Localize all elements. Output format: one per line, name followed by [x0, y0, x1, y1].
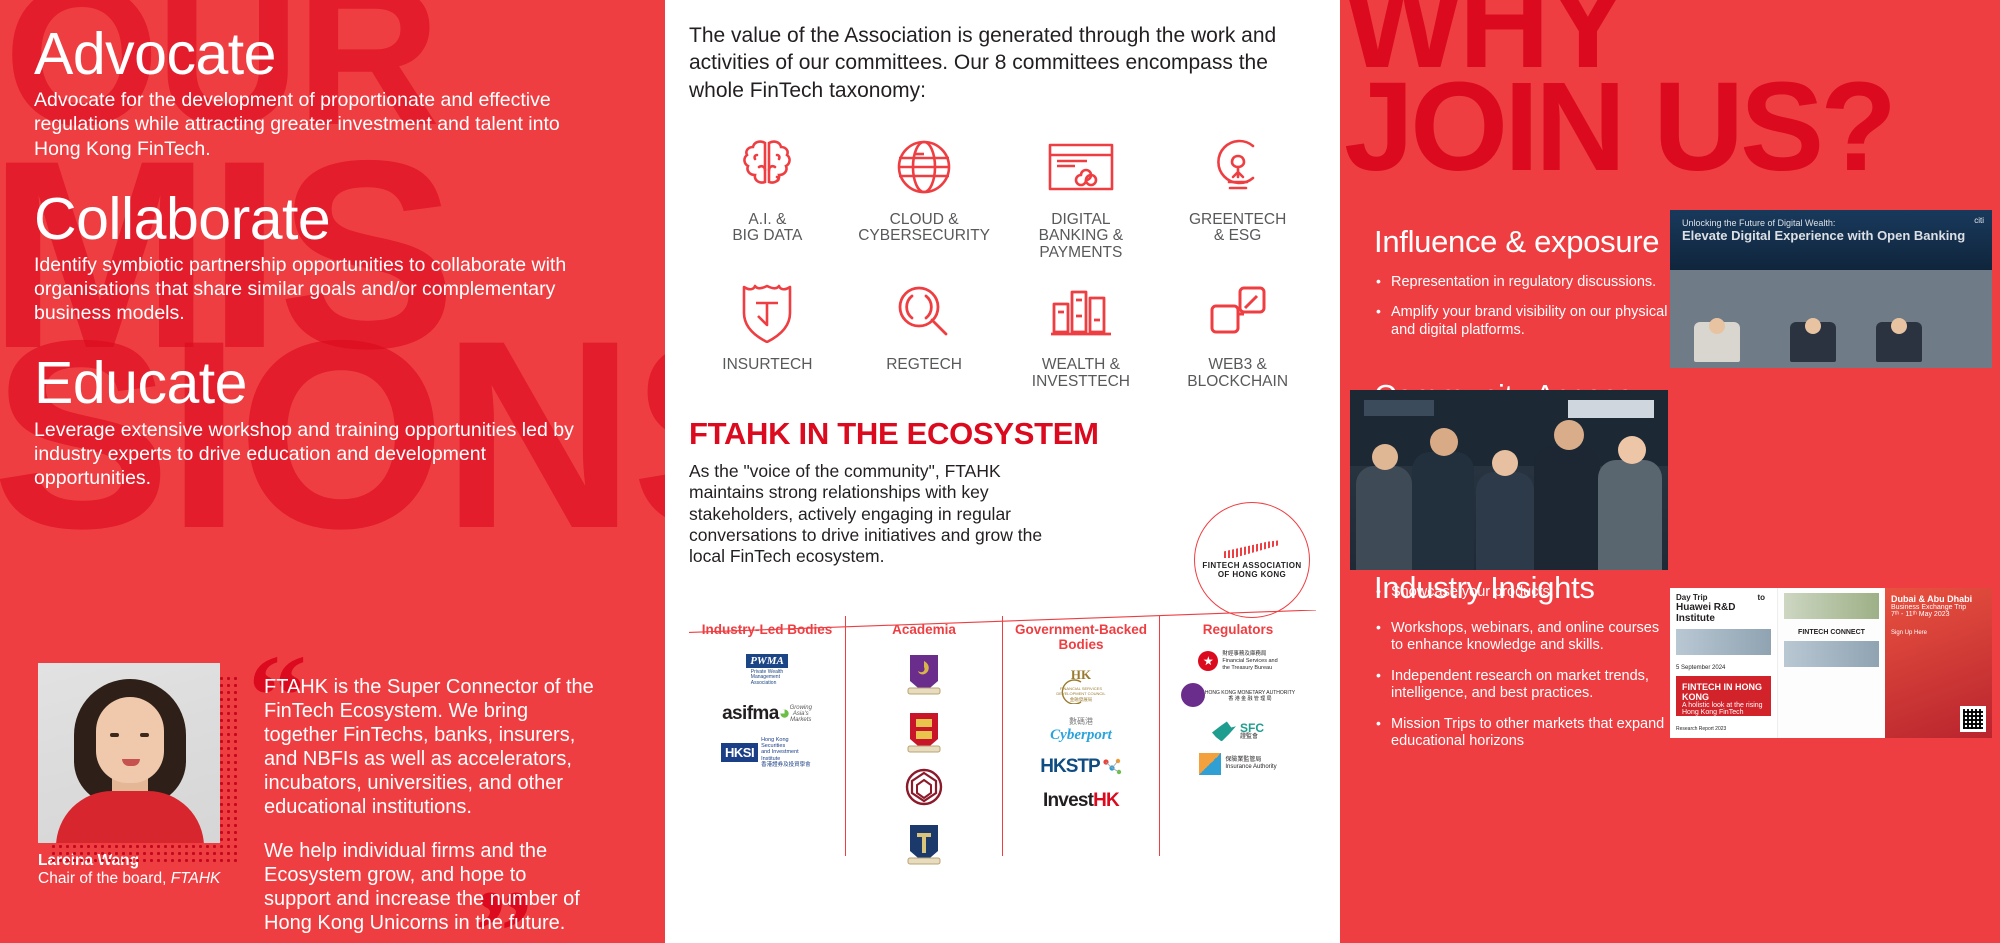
column-header: Industry-Led Bodies [689, 622, 845, 637]
svg-text:DEVELOPMENT COUNCIL: DEVELOPMENT COUNCIL [1056, 691, 1106, 696]
committee-digital-banking-payments[interactable]: DIGITALBANKING &PAYMENTS [1003, 126, 1160, 261]
logo-pwma: PWMAPrivate WealthManagementAssociation [726, 651, 808, 691]
photo-head [1618, 436, 1646, 464]
mission-description: Identify symbiotic partnership opportuni… [34, 253, 594, 326]
trip-photo-body: Day Trip to Huawei R&D Institute 5 Septe… [1670, 588, 1992, 738]
avatar-body [56, 791, 204, 843]
logo-hkfsdc: HK FINANCIAL SERVICES DEVELOPMENT COUNCI… [1053, 666, 1109, 704]
photo-head [1430, 428, 1458, 456]
dubai-subtitle: Business Exchange Trip [1891, 604, 1966, 611]
avatar-eye-right [140, 733, 149, 737]
bauhinia-icon [1198, 651, 1218, 671]
ecosystem-description: As the "voice of the community", FTAHK m… [689, 461, 1074, 568]
credit-card-icon [1003, 126, 1160, 208]
photo-head-1 [1709, 318, 1725, 334]
photo-person [1598, 460, 1662, 570]
eco-column-academia: Academia [845, 616, 1002, 856]
photo-head-3 [1891, 318, 1907, 334]
photo-panel-discussion: Unlocking the Future of Digital Wealth: … [1670, 210, 1992, 368]
logo-list: 財經事務及庫務局Financial Services andthe Treasu… [1160, 651, 1316, 776]
ecosystem-diagram: FINTECH ASSOCIATION OF HONG KONG Industr… [689, 574, 1316, 856]
photo-networking-crowd [1350, 390, 1668, 570]
brain-icon [689, 126, 846, 208]
logo-fstb: 財經事務及庫務局Financial Services andthe Treasu… [1198, 651, 1277, 672]
committee-wealth-investtech[interactable]: WEALTH &INVESTTECH [1003, 271, 1160, 390]
photo-head-2 [1805, 318, 1821, 334]
logo-hku [904, 709, 944, 755]
logo-list: HK FINANCIAL SERVICES DEVELOPMENT COUNCI… [1003, 666, 1159, 812]
mission-description: Leverage extensive workshop and training… [34, 418, 594, 491]
trip-image-strip [1784, 593, 1879, 619]
logo-cuhk [904, 651, 944, 697]
eco-column-government-backed: Government-BackedBodies HK FINANCIAL SER… [1002, 616, 1159, 856]
quote-paragraph-1: FTAHK is the Super Connector of the FinT… [264, 675, 594, 819]
trip-card-fintech-connect: FINTECH CONNECT [1777, 588, 1885, 738]
logo-list [846, 651, 1002, 867]
trip-subtitle: Huawei R&D Institute [1676, 602, 1771, 624]
avatar-face [96, 697, 164, 783]
avatar-mouth [122, 759, 140, 766]
list-item: Independent research on market trends, i… [1374, 668, 1674, 703]
lightbulb-leaf-icon [1159, 126, 1316, 208]
dubai-cta: Sign Up Here [1885, 624, 1992, 642]
ecosystem-columns: Industry-Led Bodies PWMAPrivate WealthMa… [689, 616, 1316, 856]
logo-hkust [904, 821, 944, 867]
missions-panel: OUR MIS SIONS Advocate Advocate for the … [0, 0, 665, 943]
eco-column-regulators: Regulators 財經事務及庫務局Financial Services an… [1159, 616, 1316, 856]
report-cover: FINTECH IN HONG KONG A holistic look at … [1676, 676, 1771, 716]
list-item: Workshops, webinars, and online courses … [1374, 620, 1674, 655]
photo-head [1492, 450, 1518, 476]
why-join-panel: WHY JOIN US? Influence & exposure Repres… [1340, 0, 2000, 943]
avatar [38, 663, 220, 843]
logo-polyu [904, 767, 944, 809]
section-influence-exposure: Influence & exposure Representation in r… [1374, 224, 1674, 352]
poster-page: OUR MIS SIONS Advocate Advocate for the … [0, 0, 2000, 943]
author-role-prefix: Chair of the board, [38, 870, 171, 887]
eco-column-industry-led: Industry-Led Bodies PWMAPrivate WealthMa… [689, 616, 845, 856]
trip-title-main: Day Trip [1676, 593, 1708, 602]
mission-title: Educate [34, 353, 631, 413]
ghost-line-2: JOIN US? [1344, 75, 2000, 178]
trip-card-dubai: Dubai & Abu Dhabi Business Exchange Trip… [1885, 588, 1992, 738]
dubai-date: 7ᵗʰ - 11ᵗʰ May 2023 [1891, 611, 1950, 618]
photo-person [1534, 446, 1600, 570]
dubai-card-text: Dubai & Abu Dhabi Business Exchange Trip… [1885, 588, 1992, 624]
column-header: Academia [846, 622, 1002, 637]
photo-person [1356, 466, 1412, 570]
crowd-photo-body [1350, 390, 1668, 570]
trip-image-strip [1784, 641, 1879, 667]
photo-person [1412, 452, 1474, 570]
mission-advocate: Advocate Advocate for the development of… [34, 24, 631, 161]
committee-label: WEALTH &INVESTTECH [1003, 357, 1160, 390]
logo-list: PWMAPrivate WealthManagementAssociation … [689, 651, 845, 769]
report-subtitle: A holistic look at the rising Hong Kong … [1682, 702, 1763, 723]
committee-grid: A.I. &BIG DATA CLOUD &CYBERSECURITY [689, 126, 1316, 390]
committee-web3-blockchain[interactable]: WEB3 &BLOCKCHAIN [1159, 271, 1316, 390]
photo-caption: Unlocking the Future of Digital Wealth: … [1682, 218, 1965, 243]
list-item: Mission Trips to other markets that expa… [1374, 716, 1674, 751]
logo-asifma: asifma◕Growing Asia's Markets [725, 703, 809, 725]
logo-hksi: HKSIHong Kong Securitiesand Investment I… [721, 737, 813, 769]
photo-head [1554, 420, 1584, 450]
trip-card-day-trip: Day Trip to Huawei R&D Institute 5 Septe… [1670, 588, 1777, 738]
column-header: Regulators [1160, 622, 1316, 637]
list-item: Representation in regulatory discussions… [1374, 274, 1674, 291]
fintech-connect-brand: FINTECH CONNECT [1778, 624, 1885, 636]
badge-line-1: FINTECH ASSOCIATION [1202, 561, 1301, 570]
committee-label: GREENTECH& ESG [1159, 212, 1316, 245]
panel-photo-body: Unlocking the Future of Digital Wealth: … [1670, 210, 1992, 368]
portrait-block: Lareina Wang Chair of the board, FTAHK [38, 663, 226, 888]
photo-mission-trips: Day Trip to Huawei R&D Institute 5 Septe… [1670, 588, 1992, 738]
author-org: FTAHK [171, 870, 221, 887]
globe-icon [846, 126, 1003, 208]
photo-head [1372, 444, 1398, 470]
section-heading: Industry Insights [1374, 570, 1674, 606]
shield-icon [689, 271, 846, 353]
logo-investhk: InvestHK [1043, 790, 1119, 812]
logo-hkma: HONG KONG MONETARY AUTHORITY香 港 金 融 管 理 … [1181, 683, 1295, 709]
bar-chart-icon [1003, 271, 1160, 353]
author-role: Chair of the board, FTAHK [38, 870, 226, 888]
logo-sfc: SFC證監會 [1212, 721, 1264, 741]
ia-mark-icon [1199, 753, 1221, 775]
trip-image-strip [1676, 629, 1771, 655]
committees-panel: The value of the Association is generate… [665, 0, 1340, 943]
committee-insurtech[interactable]: INSURTECH [689, 271, 846, 390]
sfc-bird-icon [1212, 721, 1236, 741]
svg-text:金融發展局: 金融發展局 [1070, 696, 1093, 703]
committee-label: DIGITALBANKING &PAYMENTS [1003, 212, 1160, 261]
ecosystem-title: FTAHK IN THE ECOSYSTEM [689, 416, 1316, 452]
trip-title-to: to [1757, 593, 1771, 602]
committee-label: WEB3 &BLOCKCHAIN [1159, 357, 1316, 390]
logo-insurance-authority: 保險業監管局Insurance Authority [1199, 753, 1276, 775]
missions-list: Advocate Advocate for the development of… [0, 0, 665, 490]
testimonial-text: “ FTAHK is the Super Connector of the Fi… [264, 663, 641, 935]
badge-line-2: OF HONG KONG [1218, 570, 1286, 579]
photo-title: Elevate Digital Experience with Open Ban… [1682, 228, 1965, 243]
benefit-list: Representation in regulatory discussions… [1374, 274, 1674, 339]
trip-date: 5 September 2024 [1670, 660, 1777, 671]
committee-label: INSURTECH [689, 357, 846, 373]
photo-sponsor-logo: citi [1974, 216, 1984, 225]
mission-collaborate: Collaborate Identify symbiotic partnersh… [34, 189, 631, 326]
report-title: FINTECH IN HONG KONG [1682, 682, 1765, 702]
testimonial: Lareina Wang Chair of the board, FTAHK “… [0, 663, 665, 935]
magnifier-icon [846, 271, 1003, 353]
section-industry-insights: Industry Insights Workshops, webinars, a… [1374, 570, 1674, 763]
hkma-mark-icon [1181, 683, 1205, 707]
committee-ai-big-data[interactable]: A.I. &BIG DATA [689, 126, 846, 261]
committee-greentech-esg[interactable]: GREENTECH& ESG [1159, 126, 1316, 261]
why-join-ghost-heading: WHY JOIN US? [1344, 0, 2000, 179]
photo-banner-right [1568, 400, 1654, 418]
list-item: Amplify your brand visibility on our phy… [1374, 304, 1674, 339]
dubai-title: Dubai & Abu Dhabi [1891, 594, 1986, 604]
committee-regtech[interactable]: REGTECH [846, 271, 1003, 390]
photo-overline: Unlocking the Future of Digital Wealth: [1682, 218, 1835, 228]
benefit-list: Workshops, webinars, and online courses … [1374, 620, 1674, 750]
mission-title: Collaborate [34, 189, 631, 249]
blocks-icon [1159, 271, 1316, 353]
committee-cloud-cybersecurity[interactable]: CLOUD &CYBERSECURITY [846, 126, 1003, 261]
section-heading: Influence & exposure [1374, 224, 1674, 260]
committees-intro: The value of the Association is generate… [689, 22, 1316, 104]
column-header: Government-BackedBodies [1003, 622, 1159, 652]
committee-label: A.I. &BIG DATA [689, 212, 846, 245]
photo-banner-left [1364, 400, 1434, 416]
ftahk-swoosh-icon [1224, 540, 1280, 558]
avatar-eye-left [110, 733, 119, 737]
mission-educate: Educate Leverage extensive workshop and … [34, 353, 631, 490]
committee-label: REGTECH [846, 357, 1003, 373]
qr-code-icon[interactable] [1960, 706, 1986, 732]
logo-hkstp: HKSTP [1040, 756, 1121, 778]
trip-card-title: Day Trip to Huawei R&D Institute [1670, 588, 1777, 624]
ftahk-badge: FINTECH ASSOCIATION OF HONG KONG [1194, 502, 1310, 618]
photo-person [1476, 472, 1534, 570]
logo-cyberport: 數碼港 Cyberport [1050, 716, 1112, 744]
mission-title: Advocate [34, 24, 631, 84]
quote-paragraph-2: We help individual firms and the Ecosyst… [264, 839, 594, 935]
mission-description: Advocate for the development of proporti… [34, 88, 594, 161]
committee-label: CLOUD &CYBERSECURITY [846, 212, 1003, 245]
